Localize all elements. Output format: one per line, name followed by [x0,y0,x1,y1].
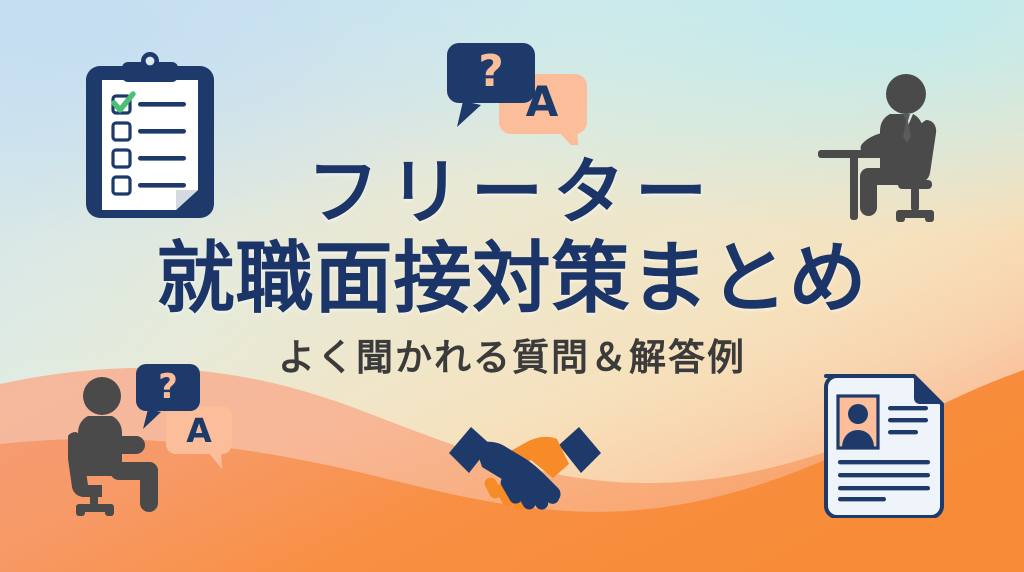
svg-text:A: A [186,411,212,450]
handshake-icon [445,415,605,515]
svg-text:?: ? [478,46,504,97]
interview-person-qa-icon: A ? [68,358,240,518]
svg-text:?: ? [158,367,178,407]
headline-line-2: 就職面接対策まとめ [0,240,1024,318]
resume-document-icon [818,366,950,518]
thumbnail-canvas: フリーター 就職面接対策まとめ よく聞かれる質問＆解答例 [0,0,1024,572]
person-at-desk-icon [812,72,952,227]
qa-speech-bubbles-icon: A ? [441,40,591,145]
clipboard-checklist-icon [80,52,220,224]
